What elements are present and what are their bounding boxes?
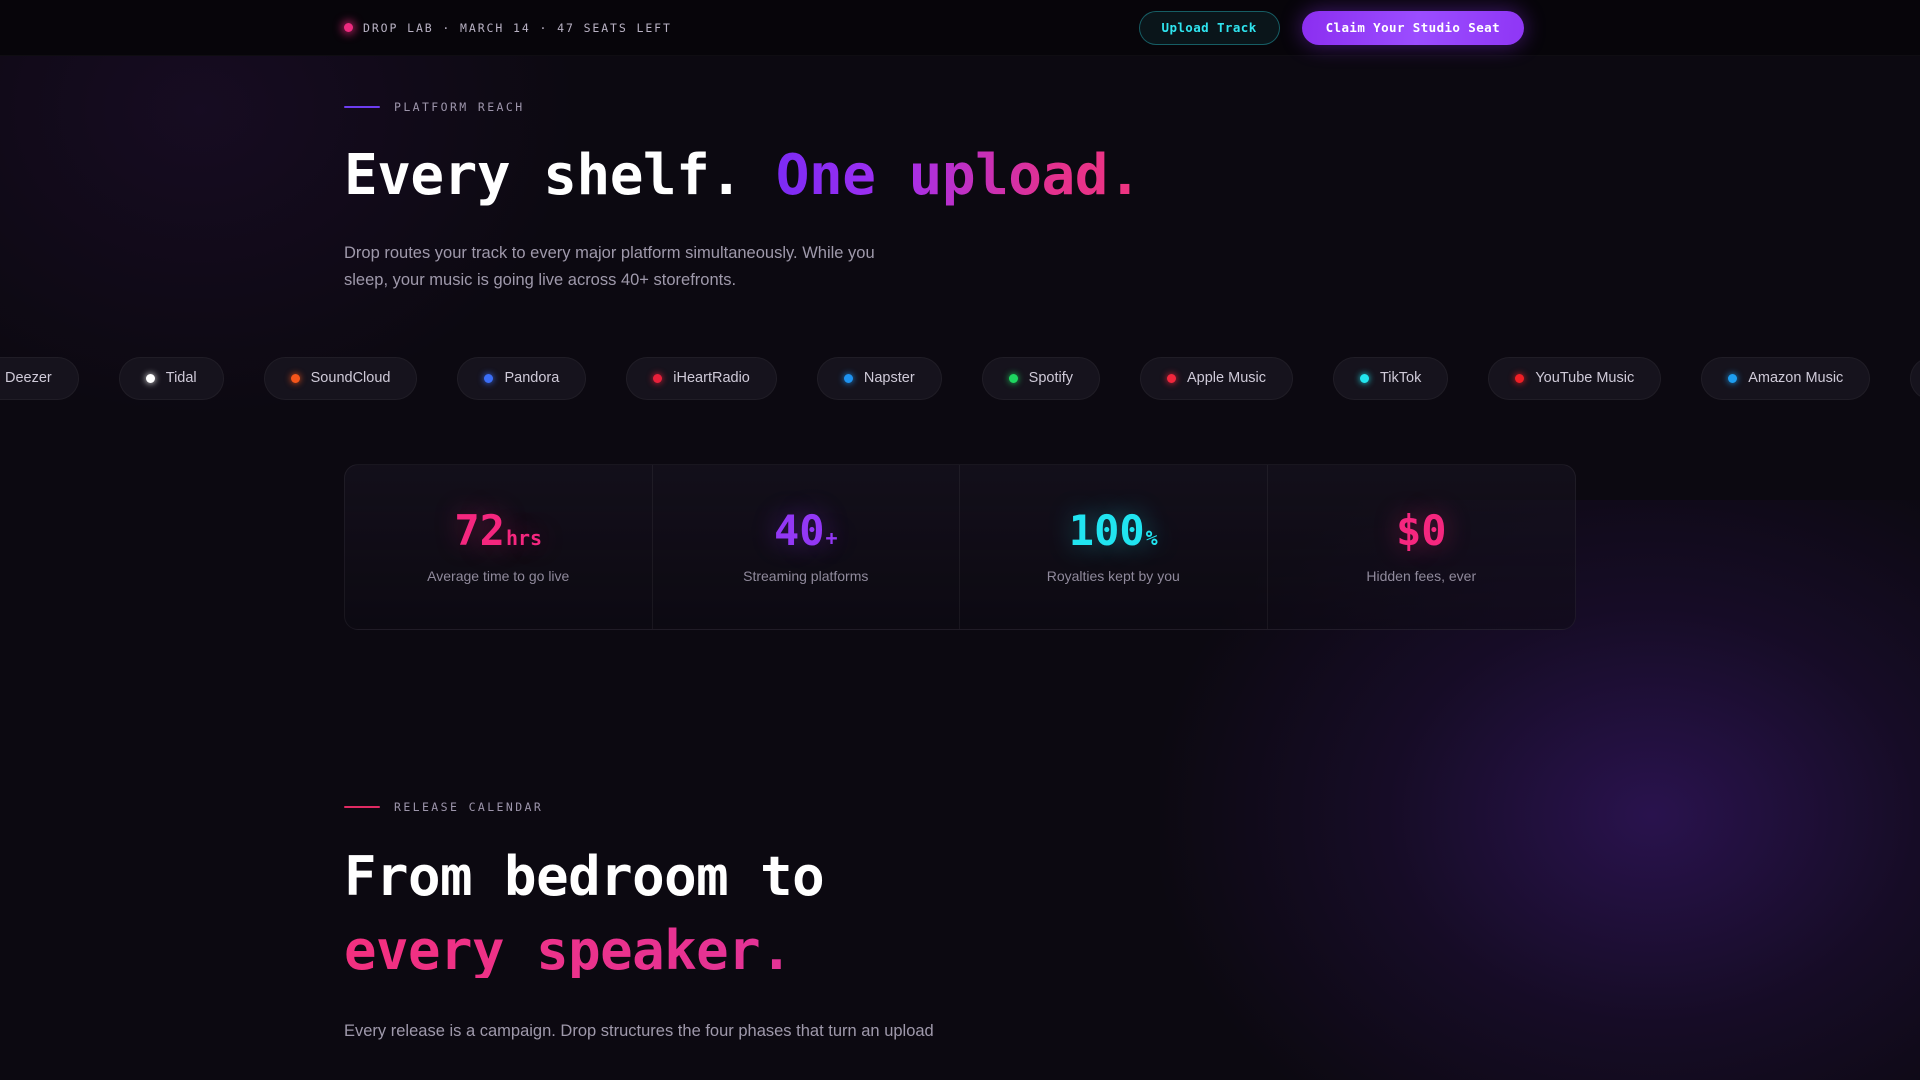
- hero-section: PLATFORM REACH Every shelf. One upload. …: [0, 56, 1920, 294]
- stat-label: Average time to go live: [427, 568, 569, 584]
- eyebrow-rule-icon: [344, 106, 380, 108]
- platform-chip[interactable]: iHeartRadio: [626, 357, 777, 400]
- hero-lede: Drop routes your track to every major pl…: [344, 240, 904, 294]
- live-dot-icon: [344, 23, 353, 32]
- platform-chip-label: TikTok: [1380, 370, 1421, 386]
- platform-chip[interactable]: Napster: [817, 357, 942, 400]
- stat-number: $0: [1396, 510, 1447, 552]
- platform-chip[interactable]: SoundCloud: [264, 357, 418, 400]
- platform-dot-icon: [1009, 374, 1018, 383]
- platform-chip-label: YouTube Music: [1535, 370, 1634, 386]
- platform-dot-icon: [146, 374, 155, 383]
- platform-dot-icon: [484, 374, 493, 383]
- calendar-eyebrow-label: RELEASE CALENDAR: [394, 800, 543, 814]
- claim-studio-seat-button[interactable]: Claim Your Studio Seat: [1302, 11, 1524, 45]
- stat-suffix: +: [826, 528, 838, 548]
- stat-value: 100%: [1069, 510, 1158, 552]
- upload-track-button[interactable]: Upload Track: [1139, 11, 1280, 45]
- platform-chip-label: Tidal: [166, 370, 197, 386]
- announcement-bar: DROP LAB · MARCH 14 · 47 SEATS LEFT Uplo…: [0, 0, 1920, 56]
- stat-suffix: hrs: [506, 528, 542, 548]
- platform-chip-label: Pandora: [504, 370, 559, 386]
- platform-dot-icon: [844, 374, 853, 383]
- platform-chip[interactable]: YouTube Music: [1488, 357, 1661, 400]
- platform-dot-icon: [1360, 374, 1369, 383]
- platform-chip-label: Amazon Music: [1748, 370, 1843, 386]
- announcement-actions: Upload Track Claim Your Studio Seat: [1139, 11, 1524, 45]
- announcement-message: DROP LAB · MARCH 14 · 47 SEATS LEFT: [344, 21, 672, 35]
- stat-value: 40+: [774, 510, 838, 552]
- stat-number: 40: [774, 510, 825, 552]
- platform-marquee[interactable]: DeezerTidalSoundCloudPandoraiHeartRadioN…: [0, 352, 1920, 404]
- platform-dot-icon: [291, 374, 300, 383]
- eyebrow-rule-icon: [344, 806, 380, 808]
- hero-headline-plain: Every shelf.: [344, 143, 743, 208]
- release-calendar-inner: RELEASE CALENDAR From bedroom to every s…: [0, 800, 1920, 1045]
- platform-chip-label: Napster: [864, 370, 915, 386]
- platform-chip-label: Deezer: [5, 370, 52, 386]
- platform-chip[interactable]: Deezer: [0, 357, 79, 400]
- stat-label: Hidden fees, ever: [1366, 568, 1476, 584]
- stat-cell: 40+Streaming platforms: [653, 465, 961, 629]
- platform-chip[interactable]: Tidal: [119, 357, 224, 400]
- platform-dot-icon: [1167, 374, 1176, 383]
- stat-number: 72: [454, 510, 505, 552]
- platform-chip-label: SoundCloud: [311, 370, 391, 386]
- platform-chip[interactable]: Beatport: [1910, 357, 1920, 400]
- stat-suffix: %: [1146, 528, 1158, 548]
- stat-value: 72hrs: [454, 510, 542, 552]
- platform-dot-icon: [1728, 374, 1737, 383]
- stat-cell: $0Hidden fees, ever: [1268, 465, 1576, 629]
- release-calendar-section: RELEASE CALENDAR From bedroom to every s…: [0, 800, 1920, 1045]
- platform-chip[interactable]: TikTok: [1333, 357, 1448, 400]
- hero-headline-accent: One upload.: [776, 143, 1141, 208]
- platform-chip-label: iHeartRadio: [673, 370, 750, 386]
- calendar-lede: Every release is a campaign. Drop struct…: [344, 1018, 1064, 1045]
- calendar-eyebrow: RELEASE CALENDAR: [344, 800, 1920, 814]
- hero-eyebrow: PLATFORM REACH: [344, 100, 1920, 114]
- hero-headline: Every shelf. One upload.: [344, 148, 1920, 204]
- platform-chip-label: Spotify: [1029, 370, 1073, 386]
- announcement-text: DROP LAB · MARCH 14 · 47 SEATS LEFT: [363, 21, 672, 35]
- stat-label: Streaming platforms: [743, 568, 868, 584]
- platform-dot-icon: [1515, 374, 1524, 383]
- platform-chip[interactable]: Spotify: [982, 357, 1100, 400]
- stat-number: 100: [1069, 510, 1145, 552]
- platform-dot-icon: [653, 374, 662, 383]
- platform-chip[interactable]: Apple Music: [1140, 357, 1293, 400]
- calendar-headline-line1: From bedroom to: [344, 850, 1920, 904]
- platform-chip-label: Apple Music: [1187, 370, 1266, 386]
- platform-chip[interactable]: Pandora: [457, 357, 586, 400]
- platform-chip[interactable]: Amazon Music: [1701, 357, 1870, 400]
- stats-band: 72hrsAverage time to go live40+Streaming…: [344, 464, 1576, 630]
- stat-label: Royalties kept by you: [1047, 568, 1180, 584]
- stat-cell: 72hrsAverage time to go live: [345, 465, 653, 629]
- stat-value: $0: [1396, 510, 1447, 552]
- platform-chip-track: DeezerTidalSoundCloudPandoraiHeartRadioN…: [0, 352, 1920, 404]
- hero-eyebrow-label: PLATFORM REACH: [394, 100, 525, 114]
- landing-page: DROP LAB · MARCH 14 · 47 SEATS LEFT Uplo…: [0, 0, 1920, 1080]
- stat-cell: 100%Royalties kept by you: [960, 465, 1268, 629]
- calendar-headline-line2: every speaker.: [344, 924, 1920, 978]
